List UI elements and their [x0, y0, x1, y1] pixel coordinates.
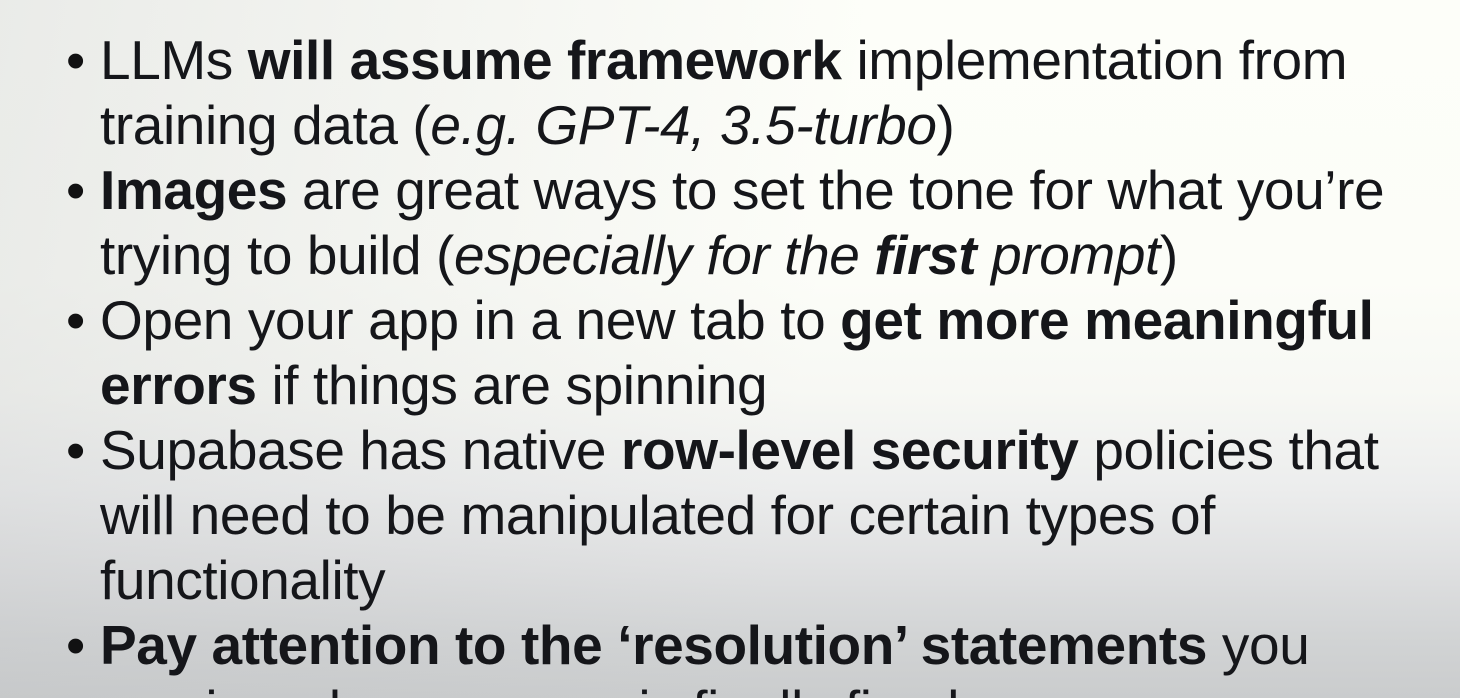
bullet-item-4: • Supabase has native row-level security…: [60, 418, 1442, 613]
bullet-item-5: • Pay attention to the ‘resolution’ stat…: [60, 613, 1442, 698]
slide-canvas: • LLMs will assume framework implementat…: [0, 0, 1460, 698]
bullet-point-icon: •: [60, 418, 100, 483]
bullet-resolution-statements: Pay attention to the ‘resolution’ statem…: [100, 613, 1442, 698]
bullet-supabase-row-level-security: Supabase has native row-level security p…: [100, 418, 1442, 613]
bullet-point-icon: •: [60, 613, 100, 678]
bullet-point-icon: •: [60, 28, 100, 93]
bullet-llms-assume-framework: LLMs will assume framework implementatio…: [100, 28, 1442, 158]
bullet-item-1: • LLMs will assume framework implementat…: [60, 28, 1442, 158]
bullet-images-set-tone: Images are great ways to set the tone fo…: [100, 158, 1442, 288]
bullet-point-icon: •: [60, 158, 100, 223]
bullet-item-3: • Open your app in a new tab to get more…: [60, 288, 1442, 418]
bullet-list: • LLMs will assume framework implementat…: [0, 0, 1460, 698]
bullet-open-app-new-tab: Open your app in a new tab to get more m…: [100, 288, 1442, 418]
bullet-item-2: • Images are great ways to set the tone …: [60, 158, 1442, 288]
bullet-point-icon: •: [60, 288, 100, 353]
